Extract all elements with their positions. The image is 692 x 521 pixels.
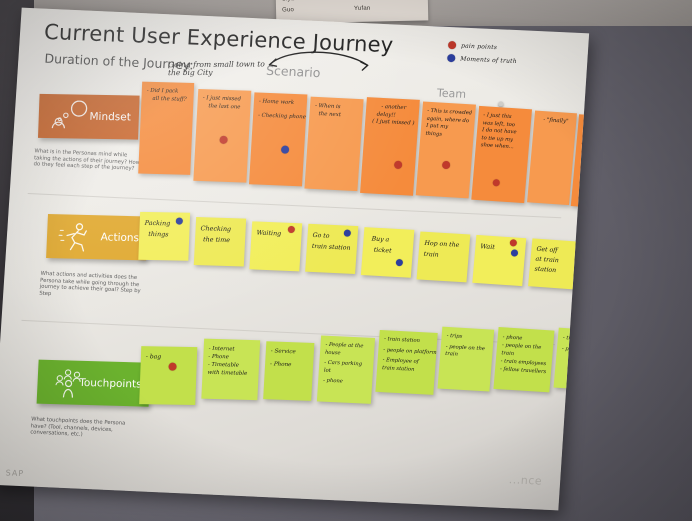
sticky-note[interactable]: - "finally" <box>527 111 577 206</box>
note-line: with timetable <box>207 369 253 378</box>
note-line: station <box>534 265 575 278</box>
row-label-mindset: Mindset <box>38 94 140 140</box>
note-line: things <box>425 130 469 140</box>
note-line: all the stuff? <box>146 95 188 104</box>
team-label: Team <box>437 87 467 101</box>
sticky-note[interactable]: Hop on the train <box>417 231 471 282</box>
note-line: ( I just missed ) <box>370 118 413 128</box>
sticky-note[interactable]: - This is crowded again, where do I put … <box>416 102 476 199</box>
row-description-touchpoints: What touchpoints does the Persona have? … <box>30 416 139 441</box>
row-label-actions: Actions <box>46 214 148 260</box>
moment-of-truth-dot-icon <box>447 54 456 62</box>
sticky-note[interactable]: Packing things <box>138 212 190 261</box>
sticky-note[interactable]: Go to train station <box>305 224 358 274</box>
sticky-note[interactable]: - Service - Phone <box>263 341 314 401</box>
pain-point-dot-icon <box>448 41 457 49</box>
sticky-note[interactable]: - I just missed the last one <box>193 89 251 183</box>
pain-point-dot-icon <box>168 363 176 371</box>
moment-of-truth-dot-icon <box>281 145 289 153</box>
running-person-icon <box>56 220 96 256</box>
legend: pain points Moments of truth <box>447 41 518 70</box>
sticky-note[interactable]: Buy a ticket <box>361 227 415 278</box>
scenario-label: Scenario <box>266 63 321 80</box>
pin-tack-icon <box>498 101 503 106</box>
pain-point-dot-icon <box>394 161 403 169</box>
note-line: - bag <box>146 352 192 362</box>
pain-point-dot-icon <box>442 161 451 169</box>
legend-item-moments-of-truth: Moments of truth <box>447 54 517 65</box>
sticky-note[interactable]: - I just this was left, too I do not hav… <box>471 106 532 203</box>
note-line: - Phone <box>270 360 308 370</box>
row-description-actions: What actions and activities does the Per… <box>39 271 149 302</box>
thought-bubble-head-icon <box>48 100 89 134</box>
legend-item-pain-points: pain points <box>448 41 518 52</box>
screenshot-root: Siya Guo Siemens Yufan Current User Expe… <box>0 0 692 521</box>
note-line: things <box>144 229 184 241</box>
sap-logo: SAP <box>5 468 24 478</box>
sticky-note[interactable]: - When is the next <box>304 97 363 191</box>
sticky-note[interactable]: - train station - people on platform - E… <box>375 330 437 395</box>
top-sheet-cell: Siemens <box>354 0 379 1</box>
row-label-text: Actions <box>100 231 139 244</box>
note-line: - Checking phone <box>258 112 301 121</box>
top-sheet-cell: Yufan <box>354 6 370 12</box>
moment-of-truth-dot-icon <box>396 259 404 266</box>
note-line: the last one <box>202 103 245 112</box>
legend-label: pain points <box>461 42 497 51</box>
top-sheet-cell: Guo <box>282 7 294 13</box>
sticky-note[interactable]: - another delay!! ( I just missed ) <box>360 97 420 196</box>
top-sheet-cell: Siya <box>282 0 295 2</box>
sticky-note[interactable]: - bag <box>139 346 197 405</box>
handwritten-duration-note: Going from small town to the big City <box>168 60 278 77</box>
sticky-note[interactable]: - Home work - Checking phone <box>249 92 307 186</box>
people-group-icon <box>47 366 95 404</box>
note-line: - phone <box>323 378 367 387</box>
sticky-note[interactable]: - Internet - Phone - Timetable with time… <box>201 339 260 400</box>
sticky-note[interactable]: Wait <box>472 235 526 286</box>
row-description-mindset: What is in the Personas mind while takin… <box>33 148 142 173</box>
note-line: the time <box>200 234 241 246</box>
sticky-note[interactable]: Waiting <box>249 221 302 271</box>
experience-brand-text: ...nce <box>508 473 542 487</box>
note-line: train station <box>311 241 352 254</box>
sticky-note[interactable]: Checking the time <box>194 217 246 267</box>
note-line: ticket <box>367 244 408 257</box>
row-label-text: Mindset <box>89 111 131 124</box>
sticky-note[interactable]: - People at the house - Cars parking lot… <box>317 335 375 403</box>
moment-of-truth-dot-icon <box>511 249 519 256</box>
pain-point-dot-icon <box>219 136 227 144</box>
pain-point-dot-icon <box>492 179 500 186</box>
note-line: - "finally" <box>539 117 572 127</box>
sticky-note[interactable]: - trips - people on the train <box>437 327 494 392</box>
note-line: shoe when... <box>480 142 524 152</box>
note-line: - fellow travellers <box>500 365 547 376</box>
note-line: the next <box>314 110 357 120</box>
journey-map-poster: Current User Experience Journey Duration… <box>0 8 589 511</box>
row-label-touchpoints: Touchpoints <box>37 360 151 407</box>
note-line: - Service <box>271 347 309 357</box>
legend-label: Moments of truth <box>460 55 517 65</box>
sticky-note[interactable]: - Did I pack all the stuff? <box>138 82 194 175</box>
note-line: train station <box>382 365 430 375</box>
sticky-note[interactable]: - phone - people on the train - train em… <box>493 327 554 392</box>
